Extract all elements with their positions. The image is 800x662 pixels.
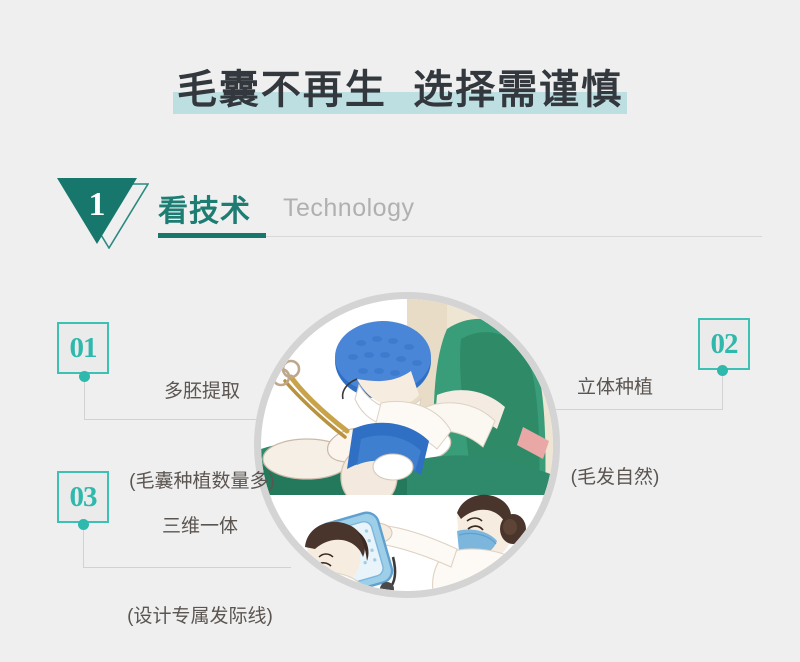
page-headline: 毛囊不再生 选择需谨慎 [0,62,800,118]
callout-02-line2: (毛发自然) [540,463,690,493]
callout-03-line1: 三维一体 [100,512,300,542]
page-title: 毛囊不再生 选择需谨慎 [177,68,623,112]
section-header: 1 看技术 Technology [0,172,800,252]
connector-dot-03 [78,519,89,530]
section-title-en: Technology [283,194,414,223]
section-divider-accent [158,233,266,238]
callout-text-02: 立体种植 (毛发自然) [540,313,690,523]
callout-02-line1: 立体种植 [540,373,690,403]
callout-text-03: 三维一体 (设计专属发际线) [100,452,300,662]
callout-01-line1: 多胚提取 [112,377,292,407]
section-title-cn: 看技术 [158,186,251,230]
callout-badge-01: 01 [57,322,109,374]
headline-inner: 毛囊不再生 选择需谨慎 [173,62,627,118]
callout-03-line2: (设计专属发际线) [100,602,300,632]
step-number: 1 [57,180,137,230]
callout-number-02: 02 [700,320,748,368]
callout-badge-02: 02 [698,318,750,370]
step-triangle-badge: 1 [57,178,152,250]
callout-number-01: 01 [59,324,107,372]
connector-dot-01 [79,371,90,382]
connector-dot-02 [717,365,728,376]
